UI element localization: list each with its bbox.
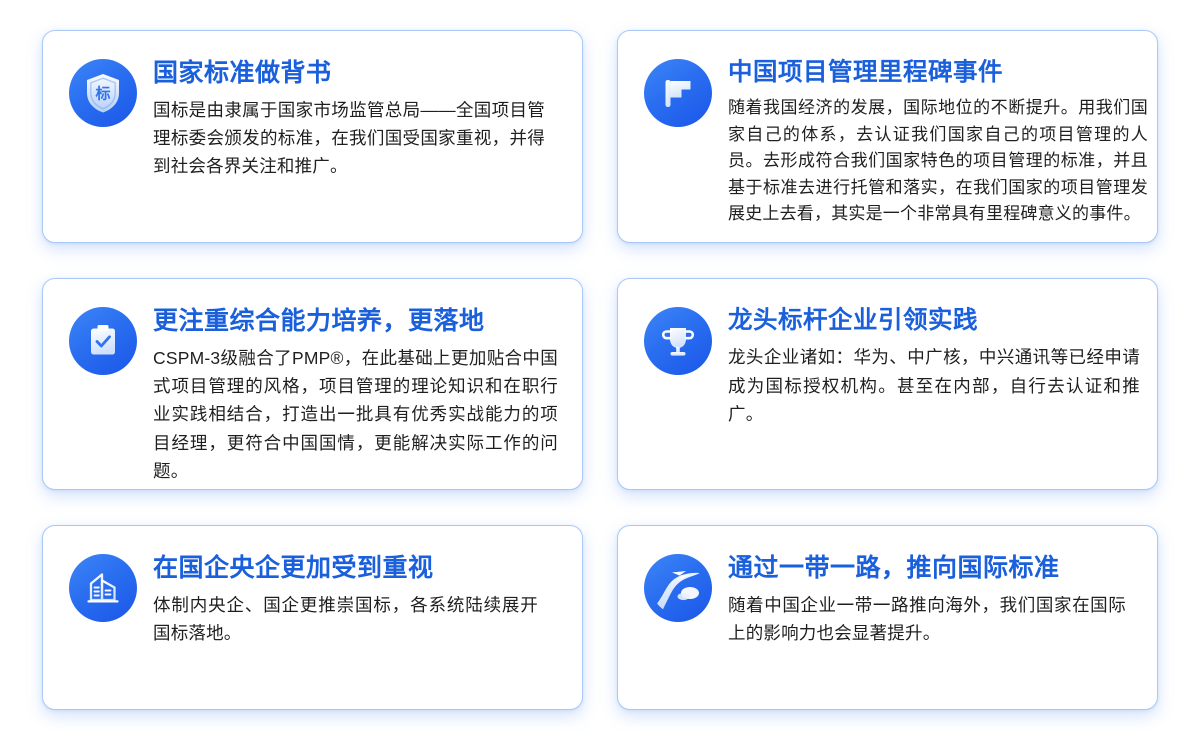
card-title: 通过一带一路，推向国际标准	[728, 554, 1132, 583]
feature-card-belt-and-road[interactable]: 通过一带一路，推向国际标准 随着中国企业一带一路推向海外，我们国家在国际上的影响…	[617, 525, 1158, 710]
shield-standard-icon: 标	[69, 59, 137, 127]
feature-card-leading-enterprises[interactable]: 龙头标杆企业引领实践 龙头企业诸如：华为、中广核，中兴通讯等已经申请成为国标授权…	[617, 278, 1158, 490]
card-description: 龙头企业诸如：华为、中广核，中兴通讯等已经申请成为国标授权机构。甚至在内部，自行…	[728, 343, 1140, 428]
card-title: 国家标准做背书	[153, 59, 553, 88]
card-description: 随着中国企业一带一路推向海外，我们国家在国际上的影响力也会显著提升。	[728, 591, 1126, 648]
card-title: 在国企央企更加受到重视	[153, 554, 553, 583]
card-title: 更注重综合能力培养，更落地	[153, 307, 560, 336]
card-description: 体制内央企、国企更推崇国标，各系统陆续展开国标落地。	[153, 591, 538, 648]
feature-card-national-standard[interactable]: 标 国家标准做背书 国标是由隶属于国家市场监管总局——全国项目管理标委会颁发的标…	[42, 30, 583, 243]
card-description: 随着我国经济的发展，国际地位的不断提升。用我们国家自己的体系，去认证我们国家自己…	[728, 95, 1148, 228]
card-content: 通过一带一路，推向国际标准 随着中国企业一带一路推向海外，我们国家在国际上的影响…	[728, 552, 1132, 647]
flag-icon	[644, 59, 712, 127]
clipboard-check-icon	[69, 307, 137, 375]
card-content: 龙头标杆企业引领实践 龙头企业诸如：华为、中广核，中兴通讯等已经申请成为国标授权…	[728, 305, 1135, 428]
building-icon	[69, 554, 137, 622]
card-description: 国标是由隶属于国家市场监管总局——全国项目管理标委会颁发的标准，在我们国受国家重…	[153, 96, 545, 181]
feature-card-comprehensive-ability[interactable]: 更注重综合能力培养，更落地 CSPM-3级融合了PMP®，在此基础上更加贴合中国…	[42, 278, 583, 490]
trophy-icon	[644, 307, 712, 375]
card-content: 在国企央企更加受到重视 体制内央企、国企更推崇国标，各系统陆续展开国标落地。	[153, 552, 553, 647]
card-title: 中国项目管理里程碑事件	[728, 59, 1135, 87]
shield-icon-glyph: 标	[94, 85, 110, 103]
card-description: CSPM-3级融合了PMP®，在此基础上更加贴合中国式项目管理的风格，项目管理的…	[153, 344, 558, 486]
card-content: 中国项目管理里程碑事件 随着我国经济的发展，国际地位的不断提升。用我们国家自己的…	[728, 57, 1135, 228]
belt-and-road-icon	[644, 554, 712, 622]
card-content: 更注重综合能力培养，更落地 CSPM-3级融合了PMP®，在此基础上更加贴合中国…	[153, 305, 560, 485]
card-content: 国家标准做背书 国标是由隶属于国家市场监管总局——全国项目管理标委会颁发的标准，…	[153, 57, 553, 181]
feature-card-grid: 标 国家标准做背书 国标是由隶属于国家市场监管总局——全国项目管理标委会颁发的标…	[0, 0, 1200, 741]
feature-card-state-owned-enterprises[interactable]: 在国企央企更加受到重视 体制内央企、国企更推崇国标，各系统陆续展开国标落地。	[42, 525, 583, 710]
feature-card-milestone-event[interactable]: 中国项目管理里程碑事件 随着我国经济的发展，国际地位的不断提升。用我们国家自己的…	[617, 30, 1158, 243]
card-title: 龙头标杆企业引领实践	[728, 307, 1135, 335]
